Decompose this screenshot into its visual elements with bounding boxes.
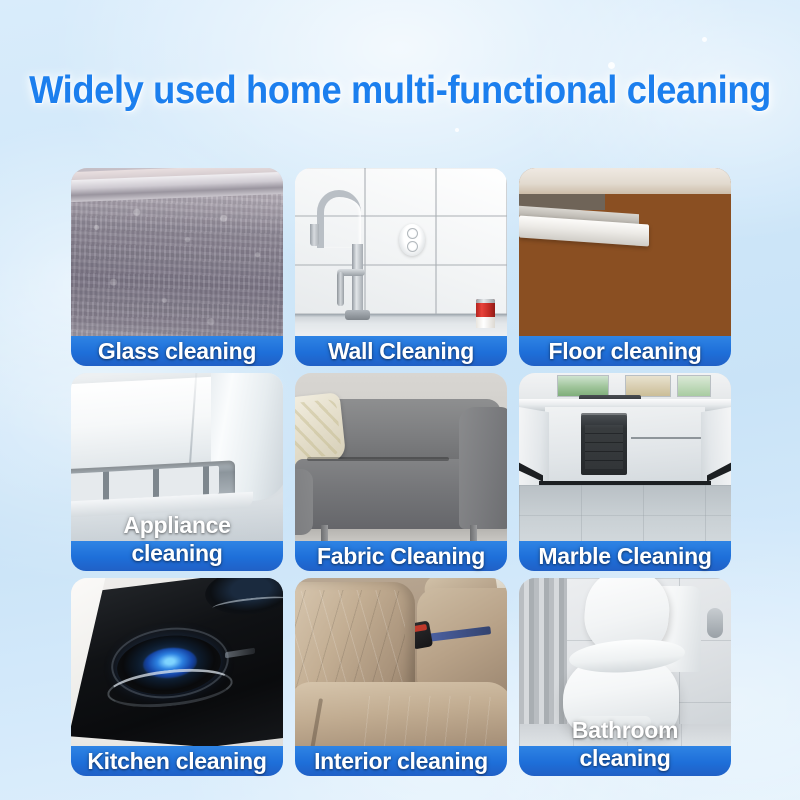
tile-kitchen[interactable]: Kitchen cleaning [71,578,283,768]
tile-fabric[interactable]: Fabric Cleaning [295,373,507,563]
tile-label-bathroom: Bathroomcleaning [519,716,731,772]
car-seats-photo [295,578,507,768]
tile-floor[interactable]: Floor cleaning [519,168,731,358]
page-title: Widely used home multi-functional cleani… [28,68,772,114]
tile-appliance[interactable]: Appliancecleaning [71,373,283,563]
tile-label-kitchen: Kitchen cleaning [57,748,297,774]
tiled-wall-faucet-photo [295,168,507,358]
background-speck [455,128,459,132]
tile-label-glass: Glass cleaning [57,338,297,364]
tile-label-floor: Floor cleaning [505,338,745,364]
tile-interior[interactable]: Interior cleaning [295,578,507,768]
gas-cooktop-photo [71,578,283,768]
cleaning-uses-grid: Glass cleaning Wall Cleaning [71,168,731,768]
poster-background: Widely used home multi-functional cleani… [0,0,800,800]
tile-glass[interactable]: Glass cleaning [71,168,283,358]
background-speck [702,37,707,42]
tile-bathroom[interactable]: Bathroomcleaning [519,578,731,768]
tile-label-fabric: Fabric Cleaning [281,543,521,569]
tile-label-interior: Interior cleaning [281,748,521,774]
marble-kitchen-photo [519,373,731,563]
tile-marble[interactable]: Marble Cleaning [519,373,731,563]
hardwood-floor-photo [519,168,731,358]
tile-label-marble: Marble Cleaning [505,543,745,569]
shower-glass-photo [71,168,283,358]
tile-label-wall: Wall Cleaning [281,338,521,364]
tile-label-appliance: Appliancecleaning [71,511,283,567]
tile-wall[interactable]: Wall Cleaning [295,168,507,358]
gray-sofa-photo [295,373,507,563]
